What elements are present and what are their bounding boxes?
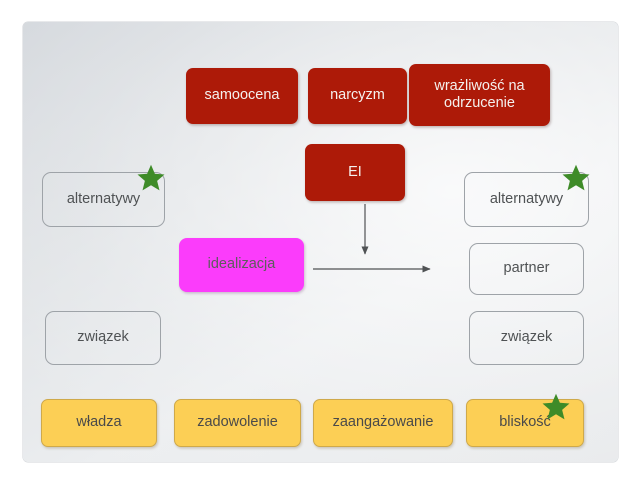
node-idealizacja[interactable]: idealizacja xyxy=(179,238,304,292)
node-left-zwiazek-label: związek xyxy=(77,329,129,346)
node-wladza[interactable]: władza xyxy=(41,399,157,447)
node-zaangazowanie[interactable]: zaangażowanie xyxy=(313,399,453,447)
node-right-alternatywy[interactable]: alternatywy xyxy=(464,172,589,227)
node-idealizacja-label: idealizacja xyxy=(208,256,276,273)
node-right-partner-label: partner xyxy=(504,260,550,277)
slide-canvas: samoocena narcyzm wrażliwość na odrzucen… xyxy=(23,22,618,462)
node-left-alternatywy[interactable]: alternatywy xyxy=(42,172,165,227)
node-narcyzm-label: narcyzm xyxy=(330,87,385,104)
node-zadowolenie-label: zadowolenie xyxy=(197,414,278,431)
node-right-zwiazek-label: związek xyxy=(501,329,553,346)
node-wrazliwosc-line2: odrzucenie xyxy=(444,95,515,112)
node-right-alternatywy-label: alternatywy xyxy=(490,191,563,208)
node-wrazliwosc-line1: wrażliwość na xyxy=(434,78,524,95)
node-zaangazowanie-label: zaangażowanie xyxy=(333,414,434,431)
node-samoocena[interactable]: samoocena xyxy=(186,68,298,124)
node-right-partner[interactable]: partner xyxy=(469,243,584,295)
node-wladza-label: władza xyxy=(76,414,121,431)
node-narcyzm[interactable]: narcyzm xyxy=(308,68,407,124)
node-zadowolenie[interactable]: zadowolenie xyxy=(174,399,301,447)
node-ei-label: EI xyxy=(348,164,362,181)
node-bliskosc-label: bliskość xyxy=(499,414,551,431)
node-left-alternatywy-label: alternatywy xyxy=(67,191,140,208)
node-right-zwiazek[interactable]: związek xyxy=(469,311,584,365)
node-samoocena-label: samoocena xyxy=(205,87,280,104)
node-ei[interactable]: EI xyxy=(305,144,405,201)
node-left-zwiazek[interactable]: związek xyxy=(45,311,161,365)
node-bliskosc[interactable]: bliskość xyxy=(466,399,584,447)
node-wrazliwosc-na-odrzucenie[interactable]: wrażliwość na odrzucenie xyxy=(409,64,550,126)
